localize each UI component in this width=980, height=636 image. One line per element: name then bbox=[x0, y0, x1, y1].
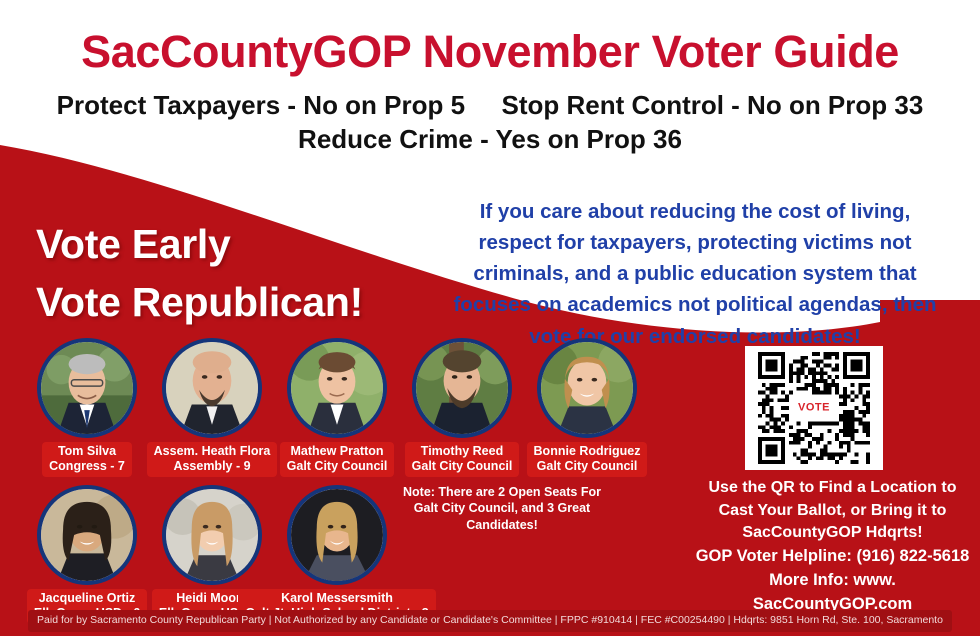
prop-33-statement: Stop Rent Control - No on Prop 33 bbox=[502, 88, 924, 122]
candidate-photo bbox=[37, 485, 137, 585]
vote-early-line-1: Vote Early bbox=[36, 215, 363, 273]
candidate-heath-flora: Assem. Heath Flora Assembly - 9 bbox=[153, 338, 271, 477]
vote-early-line-2: Vote Republican! bbox=[36, 273, 363, 331]
candidate-name-plate: Mathew Pratton Galt City Council bbox=[280, 442, 395, 477]
voter-guide-poster: SacCountyGOP November Voter Guide Protec… bbox=[0, 0, 980, 636]
candidate-portrait-image bbox=[416, 342, 508, 434]
candidate-photo bbox=[412, 338, 512, 438]
footer-bar: Paid for by Sacramento County Republican… bbox=[0, 606, 980, 636]
candidate-portrait-image bbox=[541, 342, 633, 434]
candidate-photo bbox=[287, 485, 387, 585]
qr-caption-line-2: Cast Your Ballot, or Bring it to bbox=[690, 500, 975, 523]
qr-center-label: VOTE bbox=[793, 401, 835, 416]
candidate-photo bbox=[37, 338, 137, 438]
qr-code-inner[interactable]: VOTE bbox=[753, 352, 875, 464]
poster-header: SacCountyGOP November Voter Guide Protec… bbox=[0, 28, 980, 156]
candidate-name: Bonnie Rodriguez bbox=[534, 444, 641, 459]
prop-36-statement: Reduce Crime - Yes on Prop 36 bbox=[0, 122, 980, 156]
candidate-name-plate: Tom Silva Congress - 7 bbox=[42, 442, 132, 477]
candidate-name: Karol Messersmith bbox=[245, 591, 428, 606]
candidate-tom-silva: Tom Silva Congress - 7 bbox=[28, 338, 146, 477]
candidate-mathew-pratton: Mathew Pratton Galt City Council bbox=[278, 338, 396, 477]
candidate-name: Assem. Heath Flora bbox=[154, 444, 271, 459]
candidate-name: Jacqueline Ortiz bbox=[34, 591, 140, 606]
candidate-jacqueline-ortiz: Jacqueline Ortiz Elk Grove USD - 6 bbox=[28, 485, 146, 624]
candidate-name-plate: Bonnie Rodriguez Galt City Council bbox=[527, 442, 648, 477]
candidate-name: Mathew Pratton bbox=[287, 444, 388, 459]
vote-early-slogan: Vote Early Vote Republican! bbox=[36, 215, 363, 331]
candidate-timothy-reed: Timothy Reed Galt City Council bbox=[403, 338, 521, 477]
candidate-name: Tom Silva bbox=[49, 444, 125, 459]
candidate-photo bbox=[537, 338, 637, 438]
footer-disclaimer: Paid for by Sacramento County Republican… bbox=[28, 610, 952, 632]
qr-caption: Use the QR to Find a Location to Cast Yo… bbox=[690, 477, 975, 545]
prop-5-statement: Protect Taxpayers - No on Prop 5 bbox=[57, 88, 465, 122]
proposition-line-1: Protect Taxpayers - No on Prop 5 Stop Re… bbox=[0, 88, 980, 122]
page-title: SacCountyGOP November Voter Guide bbox=[0, 28, 980, 76]
candidate-photo bbox=[287, 338, 387, 438]
candidate-office: Galt City Council bbox=[534, 459, 641, 474]
candidate-portrait-image bbox=[166, 342, 258, 434]
qr-code-block[interactable]: VOTE bbox=[745, 346, 883, 470]
voter-helpline[interactable]: GOP Voter Helpline: (916) 822-5618 bbox=[690, 545, 975, 569]
note-label: Note bbox=[403, 485, 431, 499]
candidate-portrait-image bbox=[166, 489, 258, 581]
candidate-row-1: Tom Silva Congress - 7 bbox=[28, 338, 653, 477]
candidate-name-plate: Assem. Heath Flora Assembly - 9 bbox=[147, 442, 278, 477]
candidate-row-2: Jacqueline Ortiz Elk Grove USD - 6 bbox=[28, 485, 403, 624]
candidate-portrait-image bbox=[291, 489, 383, 581]
candidate-bonnie-rodriguez: Bonnie Rodriguez Galt City Council bbox=[528, 338, 646, 477]
candidate-office: Assembly - 9 bbox=[154, 459, 271, 474]
candidate-office: Galt City Council bbox=[287, 459, 388, 474]
candidate-portrait-image bbox=[291, 342, 383, 434]
candidate-office: Galt City Council bbox=[412, 459, 513, 474]
candidate-portrait-image bbox=[41, 342, 133, 434]
endorsement-paragraph: If you care about reducing the cost of l… bbox=[445, 196, 945, 352]
candidate-photo bbox=[162, 485, 262, 585]
note-body: : There are 2 Open Seats For Galt City C… bbox=[414, 485, 601, 532]
proposition-lines: Protect Taxpayers - No on Prop 5 Stop Re… bbox=[0, 88, 980, 157]
galt-council-note: Note: There are 2 Open Seats For Galt Ci… bbox=[392, 484, 612, 533]
qr-caption-line-1: Use the QR to Find a Location to bbox=[690, 477, 975, 500]
candidate-name: Timothy Reed bbox=[412, 444, 513, 459]
candidate-karol-messersmith: Karol Messersmith Galt Jt. High School D… bbox=[278, 485, 396, 624]
candidate-name-plate: Timothy Reed Galt City Council bbox=[405, 442, 520, 477]
qr-caption-line-3: SacCountyGOP Hdqrts! bbox=[690, 522, 975, 545]
candidate-office: Congress - 7 bbox=[49, 459, 125, 474]
candidate-portrait-image bbox=[41, 489, 133, 581]
candidate-photo bbox=[162, 338, 262, 438]
